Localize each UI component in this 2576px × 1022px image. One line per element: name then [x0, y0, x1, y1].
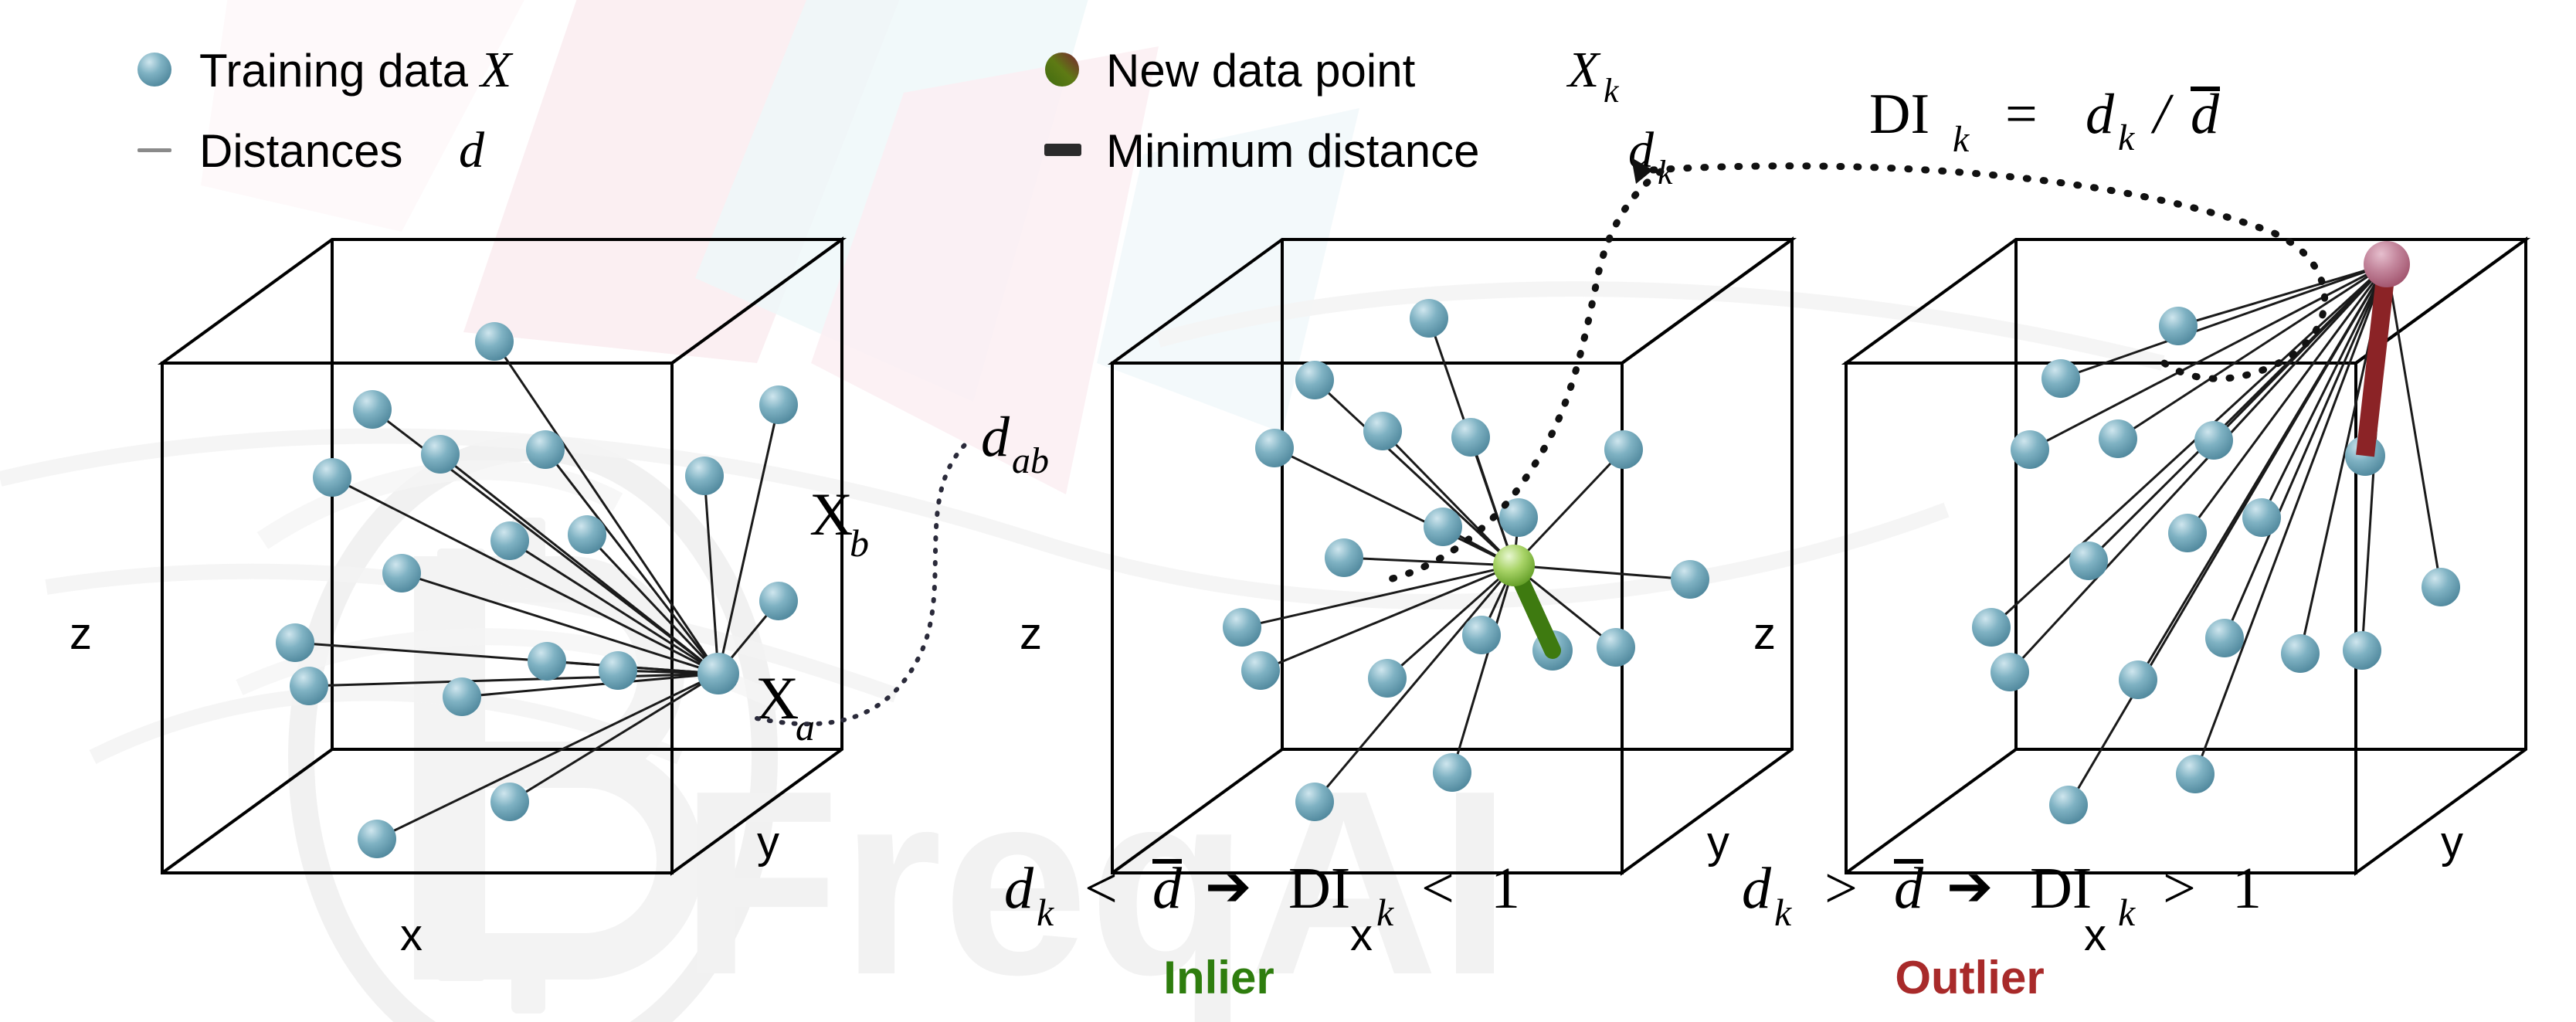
di-formula: DI k = d k / d [1869, 83, 2220, 160]
data-point [2159, 307, 2198, 345]
data-point [2168, 514, 2207, 552]
teal-sphere-marker [137, 53, 171, 87]
figure-canvas: FreqAI Training data x X Distances d New… [0, 0, 2576, 1022]
data-point [2194, 421, 2233, 460]
data-point [475, 322, 514, 361]
data-point [2011, 430, 2049, 469]
thin-gray-dash-marker [137, 148, 171, 152]
training-points-outlier [1972, 307, 2460, 824]
di-formula-equals: = [2005, 83, 2038, 146]
caption-inlier-dk-sub: k [1037, 891, 1054, 934]
panel-outlier: z x y [1753, 239, 2526, 960]
legend-item-training-data: Training data x X [137, 42, 514, 98]
caption-inlier-rel2: < [1421, 856, 1454, 921]
data-point [599, 651, 637, 690]
label-dab-sub: ab [1012, 440, 1049, 481]
data-point [313, 458, 351, 497]
data-point [2176, 755, 2215, 793]
legend-symbol-X: X [478, 42, 514, 98]
dk-curve-to-outlier [1653, 166, 2325, 379]
caption-inlier-dbar: d [1152, 856, 1183, 921]
legend-label-distances: Distances [199, 125, 402, 177]
label-Xa-sub: a [796, 705, 815, 749]
data-point [1597, 628, 1635, 667]
verdict-outlier: Outlier [1895, 952, 2044, 1003]
axis-label-z-inlier: z [1020, 609, 1042, 659]
label-dab: d [981, 406, 1010, 469]
data-point [1223, 608, 1261, 647]
legend-label-minimum-distance: Minimum distance [1106, 125, 1480, 177]
data-point [568, 515, 606, 554]
data-point [1671, 560, 1709, 599]
olive-red-sphere-marker [1045, 53, 1079, 87]
axis-label-z-training: z [70, 609, 92, 659]
caption-inlier-di-sub: k [1376, 891, 1394, 934]
data-point [276, 623, 314, 662]
di-formula-denominator: d [2191, 83, 2220, 146]
di-formula-lhs-sub: k [1953, 119, 1970, 160]
axis-label-x-inlier: x [1350, 910, 1373, 960]
caption-outlier-di: DI [2030, 856, 2092, 921]
thick-dark-dash-marker [1044, 144, 1081, 156]
caption-outlier-value: 1 [2232, 856, 2262, 921]
data-point [382, 554, 421, 592]
data-point [2049, 786, 2088, 824]
new-data-point-inlier [1493, 545, 1535, 586]
caption-outlier-di-sub: k [2118, 891, 2136, 934]
axis-label-y-inlier: y [1707, 817, 1729, 868]
axis-label-y-training: y [757, 817, 779, 868]
data-point [1295, 361, 1334, 399]
caption-outlier: d k > d ➔ DI k > 1 Outlier [1742, 856, 2262, 1003]
data-point [1368, 659, 1407, 698]
data-point [1424, 508, 1462, 546]
label-Xa: X [755, 664, 799, 732]
data-point-xa-hub [697, 653, 739, 694]
caption-outlier-dk: d [1742, 856, 1772, 921]
di-formula-slash: / [2150, 83, 2174, 146]
legend-symbol-d: d [459, 122, 485, 178]
data-point [1241, 651, 1280, 690]
data-point [2041, 359, 2080, 398]
data-point [353, 390, 392, 429]
data-point [1433, 753, 1471, 792]
data-point [290, 667, 328, 705]
legend-symbol-Xk-sub: k [1604, 72, 1620, 110]
caption-outlier-rel: > [1824, 856, 1858, 921]
data-point [528, 642, 566, 681]
data-point [2069, 542, 2108, 580]
di-formula-numerator: d [2086, 83, 2115, 146]
data-point [1604, 430, 1643, 469]
legend-label-training-data: Training data [199, 45, 469, 97]
data-point [358, 820, 396, 858]
data-point [2205, 619, 2244, 657]
data-point [1363, 412, 1402, 450]
legend-symbol-Xk: X [1566, 42, 1601, 98]
caption-inlier-di: DI [1288, 856, 1350, 921]
caption-inlier-dk: d [1004, 856, 1034, 921]
data-point [1255, 429, 1294, 467]
caption-outlier-dbar: d [1894, 856, 1924, 921]
data-point [1972, 608, 2011, 647]
caption-inlier-overbar [1152, 859, 1182, 864]
data-point [1991, 653, 2029, 691]
legend-label-new-data-point: New data point [1106, 45, 1416, 97]
denominator-overbar [2191, 87, 2220, 91]
caption-inlier-rel: < [1084, 856, 1118, 921]
caption-outlier-rel2: > [2163, 856, 2196, 921]
dab-callout: d ab [757, 406, 1049, 724]
label-Xb: X [809, 480, 853, 548]
data-point [421, 435, 460, 474]
axis-label-x-training: x [400, 910, 423, 960]
data-point [1462, 616, 1501, 654]
data-point [1325, 538, 1363, 577]
data-point [2242, 498, 2281, 537]
new-data-point-outlier [2364, 241, 2410, 287]
verdict-inlier: Inlier [1163, 952, 1274, 1003]
data-point [2099, 419, 2137, 458]
data-point [1451, 418, 1490, 457]
data-point [2422, 568, 2460, 606]
axis-label-y-outlier: y [2441, 817, 2463, 868]
data-point [2119, 660, 2157, 699]
data-point [443, 677, 481, 716]
caption-outlier-dk-sub: k [1774, 891, 1792, 934]
data-point-xb [759, 582, 798, 620]
caption-outlier-overbar [1894, 859, 1923, 864]
di-formula-numerator-sub: k [2118, 117, 2136, 158]
data-point [490, 783, 529, 821]
caption-outlier-arrow: ➔ [1946, 856, 1993, 918]
di-formula-lhs: DI [1869, 83, 1929, 146]
data-point [759, 385, 798, 424]
label-Xb-sub: b [850, 521, 869, 565]
data-point [685, 457, 724, 495]
data-point [1295, 783, 1334, 821]
caption-inlier-value: 1 [1491, 856, 1520, 921]
axis-label-z-outlier: z [1753, 609, 1776, 659]
data-point [526, 430, 565, 469]
data-point [2343, 631, 2381, 670]
data-point [490, 521, 529, 560]
data-point [2281, 634, 2320, 673]
data-point [1410, 299, 1448, 338]
caption-inlier-arrow: ➔ [1205, 856, 1251, 918]
